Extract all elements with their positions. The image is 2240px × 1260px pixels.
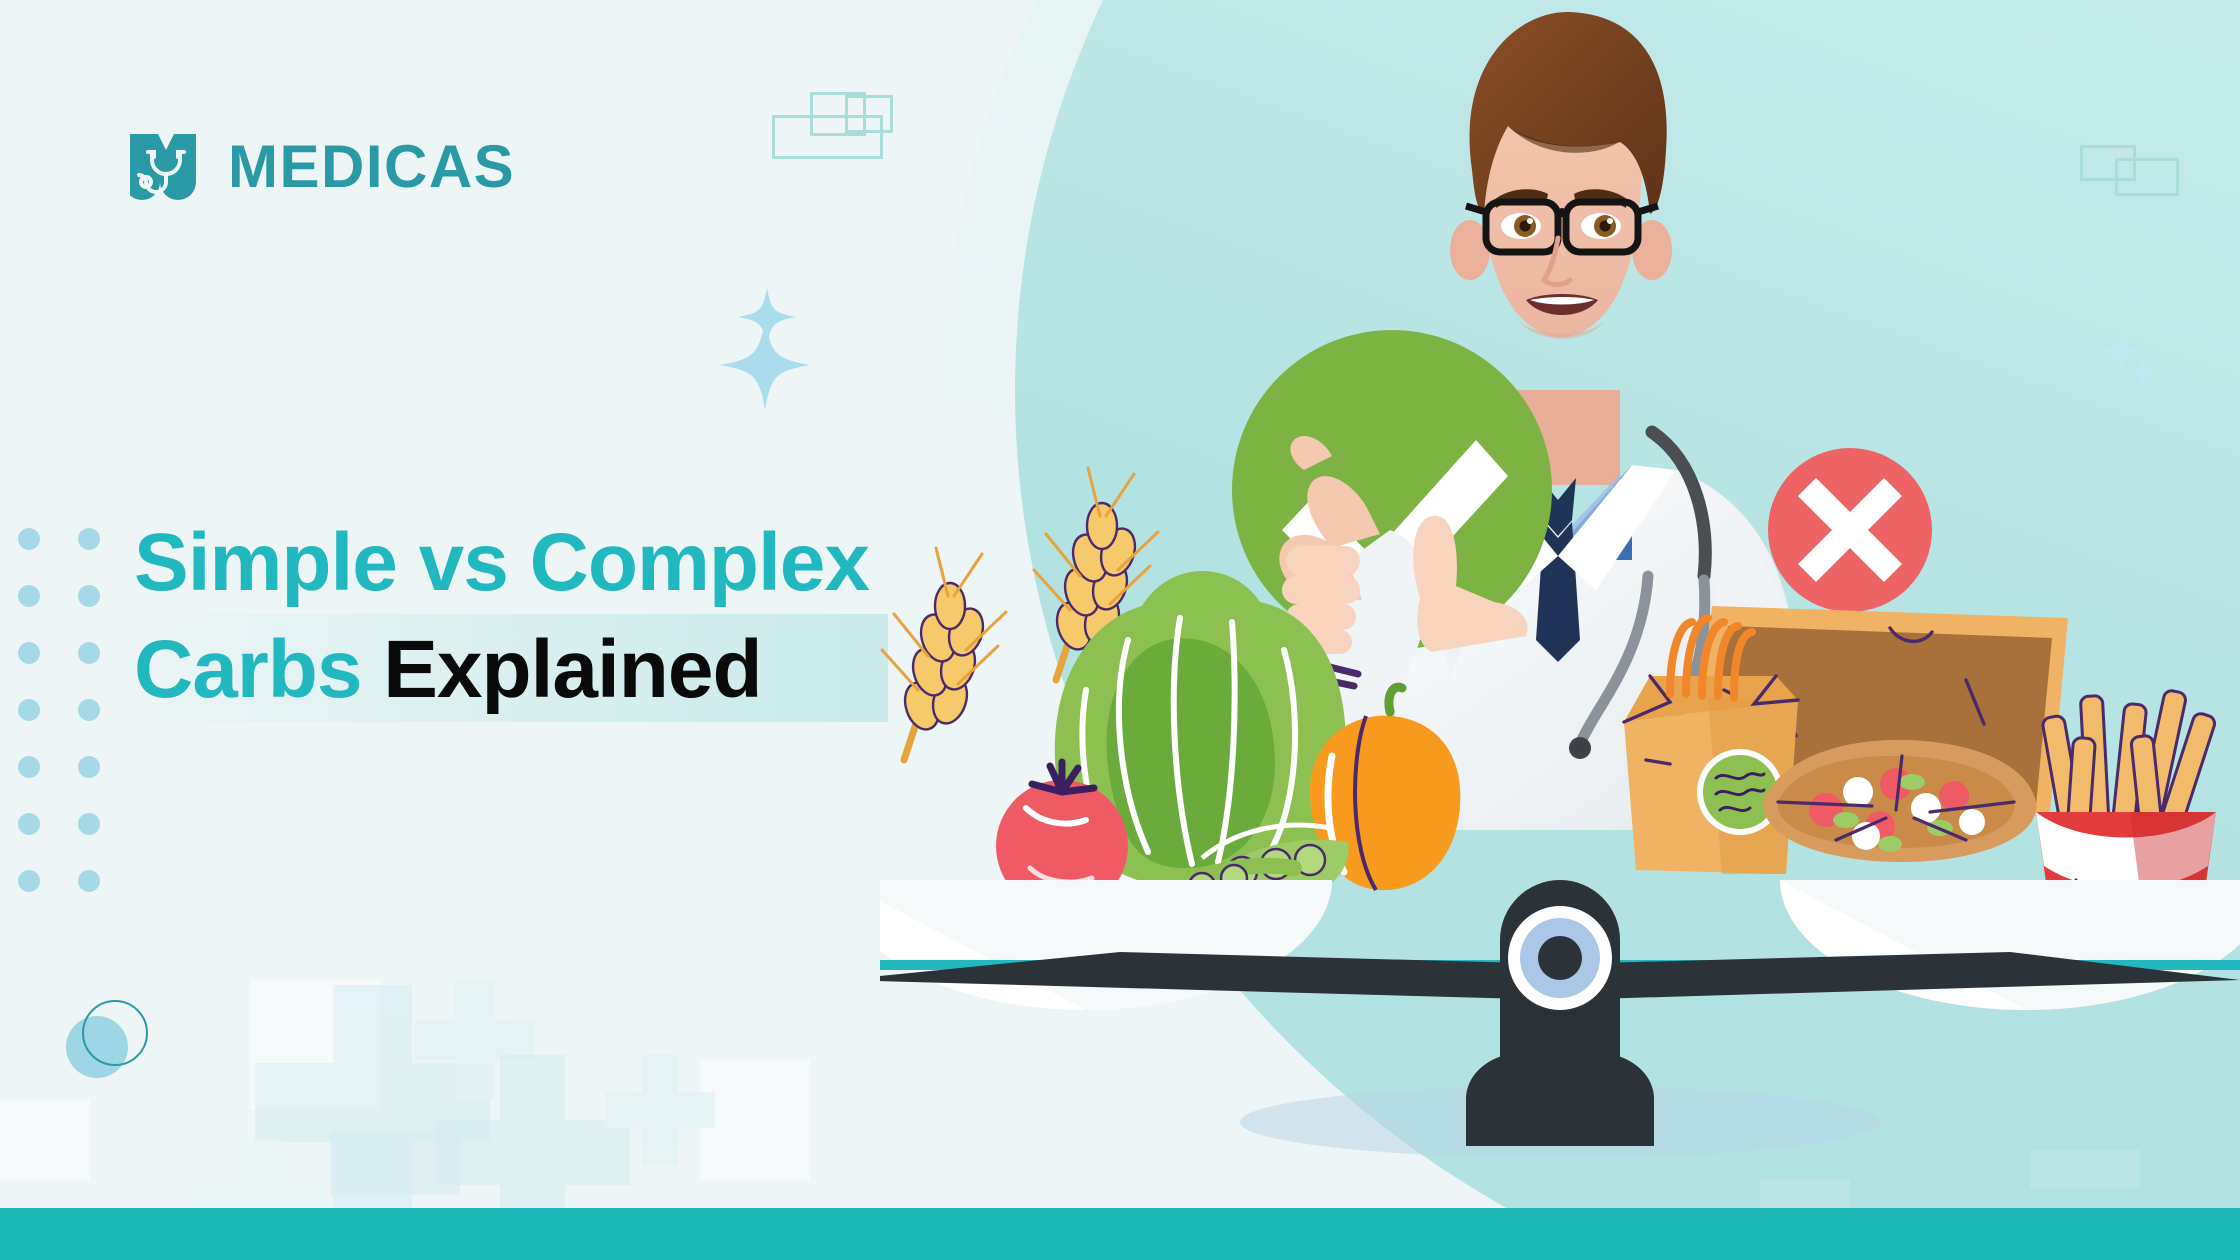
bottom-accent-bar [0,1208,2240,1260]
wheat-stalk [882,548,1006,760]
brand-name: MEDICAS [228,137,515,197]
brand-logo[interactable]: MEDICAS [130,128,515,206]
medical-cross-icon [605,1055,715,1165]
headline-line-2-black: Explained [383,624,761,715]
decor-circle-outline [82,1000,148,1066]
decor-outline-rect [772,115,883,159]
hero-illustration [880,0,2240,1200]
decor-dot-grid [18,528,138,892]
sparkle-icon [720,320,810,410]
balance-scale-stand [1466,880,1654,1146]
banner-canvas: MEDICAS Simple vs Complex Carbs Explaine… [0,0,2240,1260]
decor-patch [0,1100,90,1180]
medicas-m-stethoscope-logo-icon [130,128,202,206]
headline-line-2-teal: Carbs [134,624,361,715]
reject-cross-badge [1768,448,1932,612]
decor-patch [700,1060,810,1180]
doctor-head [1450,12,1672,339]
